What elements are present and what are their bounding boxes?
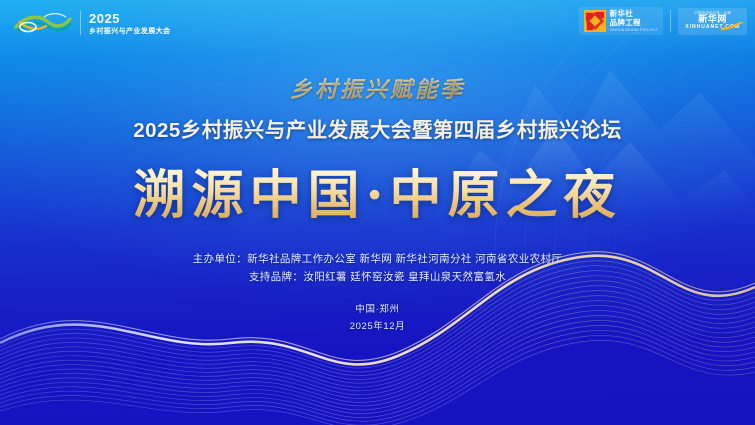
poster-content: 乡村振兴赋能季 2025乡村振兴与产业发展大会暨第四届乡村振兴论坛 溯源中国·中… xyxy=(0,0,755,336)
date-line: 2025年12月 xyxy=(0,318,755,336)
poster-canvas: 2025 乡村振兴与产业发展大会 新华社 品牌工程 XINHUA xyxy=(0,0,755,425)
supporting-brands-line: 支持品牌：汝阳红薯 廷怀窑汝瓷 皇拜山泉天然富氢水 xyxy=(0,268,755,286)
credits-block: 主办单位：新华社品牌工作办公室 新华网 新华社河南分社 河南省农业农村厅 支持品… xyxy=(0,250,755,287)
place-block: 中国·郑州 2025年12月 xyxy=(0,301,755,336)
organizers-line: 主办单位：新华社品牌工作办公室 新华网 新华社河南分社 河南省农业农村厅 xyxy=(0,250,755,268)
main-headline: 溯源中国·中原之夜 xyxy=(0,153,755,228)
kicker-title: 乡村振兴赋能季 xyxy=(0,72,755,104)
location-line: 中国·郑州 xyxy=(0,301,755,319)
conference-subtitle: 2025乡村振兴与产业发展大会暨第四届乡村振兴论坛 xyxy=(0,113,755,143)
